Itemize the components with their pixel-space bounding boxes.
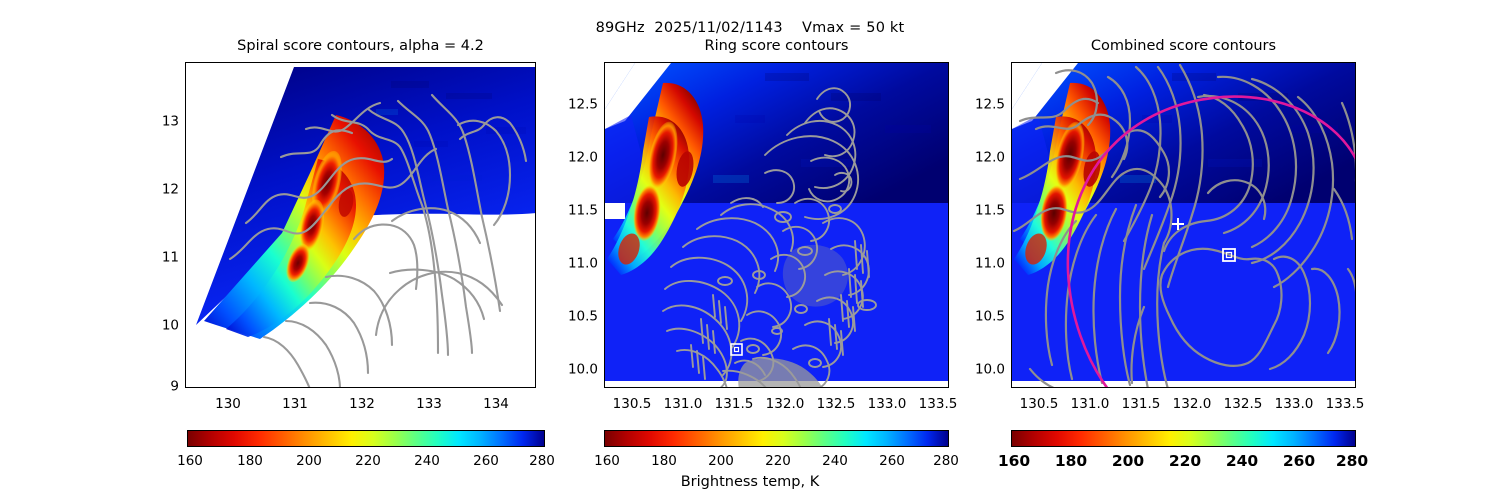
- ytick-mark: [1011, 106, 1012, 107]
- xtick-label: 132.5: [817, 398, 856, 412]
- xtick-label: 132.0: [766, 398, 805, 412]
- colorbar-left-tick: 220: [355, 453, 381, 469]
- colorbar-mid-tick: 280: [933, 453, 959, 469]
- colorbar-mid-tick: 200: [708, 453, 734, 469]
- xtick-label: 134: [483, 398, 509, 412]
- ytick-mark: [604, 106, 605, 107]
- figure-canvas: 89GHz 2025/11/02/1143 Vmax = 50 kt Spira…: [0, 0, 1500, 500]
- xtick-label: 131.0: [664, 398, 703, 412]
- xtick-label: 133: [416, 398, 442, 412]
- ytick-label: 10.0: [552, 363, 598, 377]
- colorbar-right-tick: 160: [998, 452, 1030, 470]
- xtick-label: 130.5: [613, 398, 652, 412]
- ytick-label: 12.0: [552, 151, 598, 165]
- xtick-label: 131.5: [1122, 398, 1161, 412]
- panel-spiral: Spiral score contours, alpha = 4.2: [185, 62, 536, 388]
- colorbar-mid-tick: 160: [594, 453, 620, 469]
- colorbar-left-tick: 260: [473, 453, 499, 469]
- ytick-mark: [604, 371, 605, 372]
- colorbar-mid-tick: 260: [879, 453, 905, 469]
- ytick-label: 10: [145, 319, 179, 333]
- colorbar-right-tick: 280: [1336, 452, 1368, 470]
- figure-suptitle: 89GHz 2025/11/02/1143 Vmax = 50 kt: [0, 20, 1500, 36]
- xtick-label: 130: [215, 398, 241, 412]
- ytick-label: 9: [145, 380, 179, 394]
- colorbar-right-tick: 180: [1055, 452, 1087, 470]
- ytick-mark: [1011, 159, 1012, 160]
- panel-ring-plot: [605, 63, 949, 388]
- colorbar-left-tick: 280: [529, 453, 555, 469]
- ytick-mark: [1011, 265, 1012, 266]
- panel-combined: Combined score contours: [1011, 62, 1356, 388]
- ytick-mark: [185, 184, 186, 185]
- colorbar-left-tick: 180: [237, 453, 263, 469]
- ytick-label: 12: [145, 183, 179, 197]
- panel-ring-title: Ring score contours: [604, 38, 949, 54]
- ytick-label: 13: [145, 115, 179, 129]
- ytick-mark: [604, 318, 605, 319]
- xtick-label: 133.0: [1275, 398, 1314, 412]
- colorbar-left-tick: 160: [177, 453, 203, 469]
- xtick-label: 132.5: [1224, 398, 1263, 412]
- ytick-mark: [185, 320, 186, 321]
- colorbar-left-tick: 200: [296, 453, 322, 469]
- xtick-label: 133.5: [1326, 398, 1365, 412]
- ytick-mark: [604, 212, 605, 213]
- colorbar-mid-tick: 180: [651, 453, 677, 469]
- ytick-label: 10.0: [959, 363, 1005, 377]
- ytick-label: 11.5: [959, 204, 1005, 218]
- xtick-label: 132: [349, 398, 375, 412]
- xtick-label: 131.0: [1071, 398, 1110, 412]
- ytick-mark: [1011, 318, 1012, 319]
- panel-spiral-axes[interactable]: [185, 62, 536, 388]
- colorbar-left-tick: 240: [414, 453, 440, 469]
- xtick-label: 133.0: [868, 398, 907, 412]
- colorbar-mid-tick: 220: [765, 453, 791, 469]
- panel-combined-title: Combined score contours: [1011, 38, 1356, 54]
- xtick-label: 131.5: [715, 398, 754, 412]
- colorbar-left[interactable]: [187, 430, 545, 447]
- panel-ring-axes[interactable]: [604, 62, 949, 388]
- colorbar-right-tick: 240: [1226, 452, 1258, 470]
- ytick-label: 11.5: [552, 204, 598, 218]
- panel-spiral-plot: [186, 63, 536, 388]
- ytick-label: 12.5: [959, 98, 1005, 112]
- ytick-label: 12.5: [552, 98, 598, 112]
- xtick-label: 131: [282, 398, 308, 412]
- panel-combined-plot: [1012, 63, 1356, 388]
- panel-spiral-title: Spiral score contours, alpha = 4.2: [185, 38, 536, 54]
- ytick-mark: [185, 252, 186, 253]
- colorbar-right-tick: 220: [1169, 452, 1201, 470]
- ytick-label: 11.0: [552, 257, 598, 271]
- ytick-label: 12.0: [959, 151, 1005, 165]
- ytick-label: 11: [145, 251, 179, 265]
- xtick-label: 132.0: [1173, 398, 1212, 412]
- ytick-mark: [1011, 371, 1012, 372]
- ytick-mark: [604, 159, 605, 160]
- colorbar-right-tick: 200: [1112, 452, 1144, 470]
- ytick-label: 10.5: [959, 310, 1005, 324]
- panel-ring: Ring score contours: [604, 62, 949, 388]
- colorbar-right-tick: 260: [1283, 452, 1315, 470]
- ytick-label: 10.5: [552, 310, 598, 324]
- xtick-label: 130.5: [1020, 398, 1059, 412]
- colorbar-right[interactable]: [1011, 430, 1356, 447]
- ytick-mark: [1011, 212, 1012, 213]
- xtick-label: 133.5: [919, 398, 958, 412]
- ytick-label: 11.0: [959, 257, 1005, 271]
- colorbar-mid[interactable]: [604, 430, 949, 447]
- ytick-mark: [185, 134, 186, 135]
- colorbar-xlabel: Brightness temp, K: [0, 474, 1500, 490]
- colorbar-mid-tick: 240: [822, 453, 848, 469]
- ytick-mark: [604, 265, 605, 266]
- panel-combined-axes[interactable]: [1011, 62, 1356, 388]
